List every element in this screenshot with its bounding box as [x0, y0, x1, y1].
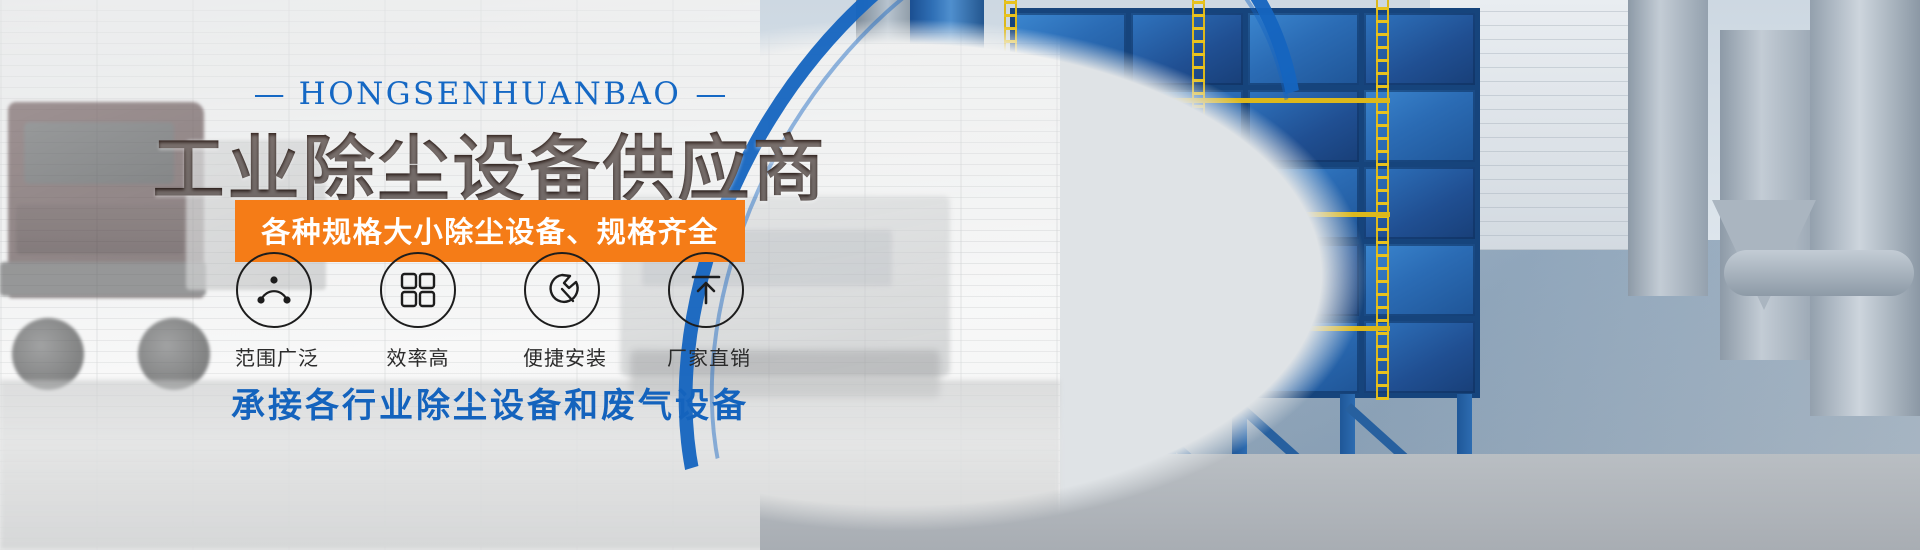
yellow-ladder — [1192, 0, 1205, 420]
horizontal-pipe — [1724, 250, 1914, 296]
feature-item-efficiency[interactable]: 效率高 — [379, 252, 457, 371]
eyebrow-brand-line: —HONGSENHUANBAO— — [0, 76, 980, 112]
baghouse-cell — [1248, 167, 1359, 239]
baghouse-cell — [1248, 321, 1359, 393]
feature-label: 效率高 — [379, 342, 457, 371]
wrench-gear-icon — [524, 252, 600, 328]
eyebrow-text: HONGSENHUANBAO — [299, 76, 682, 112]
network-nodes-icon — [236, 252, 312, 328]
upload-arrow-icon — [668, 252, 744, 328]
feature-item-factory-direct[interactable]: 厂家直销 — [667, 252, 745, 371]
yellow-ladder — [1376, 0, 1389, 400]
feature-list: 范围广泛 效率高 — [0, 252, 980, 371]
industrial-tower-3 — [1810, 0, 1920, 416]
feature-label: 范围广泛 — [235, 342, 313, 371]
hero-banner: —HONGSENHUANBAO— 工业除尘设备供应商 各种规格大小除尘设备、规格… — [0, 0, 1920, 550]
bottom-tagline: 承接各行业除尘设备和废气设备 — [0, 378, 980, 427]
eyebrow-dash-right: — — [695, 76, 726, 112]
grid-squares-icon — [380, 252, 456, 328]
baghouse-cell — [1248, 13, 1359, 85]
industrial-tower-2 — [1720, 30, 1824, 360]
baghouse-cell — [1248, 244, 1359, 316]
eyebrow-dash-left: — — [254, 76, 285, 112]
baghouse-cell — [1131, 167, 1242, 239]
feature-label: 厂家直销 — [667, 342, 745, 371]
yellow-handrail — [1004, 212, 1390, 217]
baghouse-module-grid — [1010, 8, 1480, 398]
feature-item-coverage[interactable]: 范围广泛 — [235, 252, 313, 371]
feature-item-installation[interactable]: 便捷安装 — [523, 252, 601, 371]
yellow-handrail — [1004, 326, 1390, 331]
banner-content: —HONGSENHUANBAO— 工业除尘设备供应商 各种规格大小除尘设备、规格… — [0, 0, 1060, 550]
yellow-handrail — [1004, 98, 1390, 103]
industrial-tower-1 — [1628, 0, 1708, 296]
baghouse-cell — [1131, 13, 1242, 85]
feature-label: 便捷安装 — [523, 342, 601, 371]
